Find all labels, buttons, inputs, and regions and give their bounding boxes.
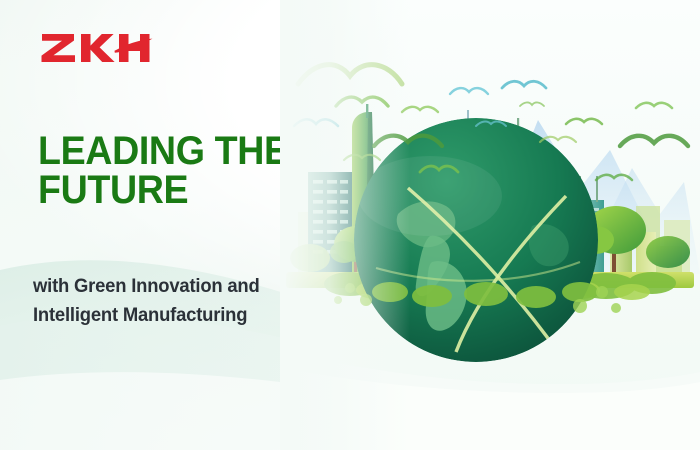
hero-banner: LEADING THE FUTURE with Green Innovation…	[0, 0, 700, 450]
green-city-globe-illustration	[280, 0, 700, 450]
globe	[354, 118, 598, 362]
zkh-logo[interactable]	[40, 28, 158, 68]
